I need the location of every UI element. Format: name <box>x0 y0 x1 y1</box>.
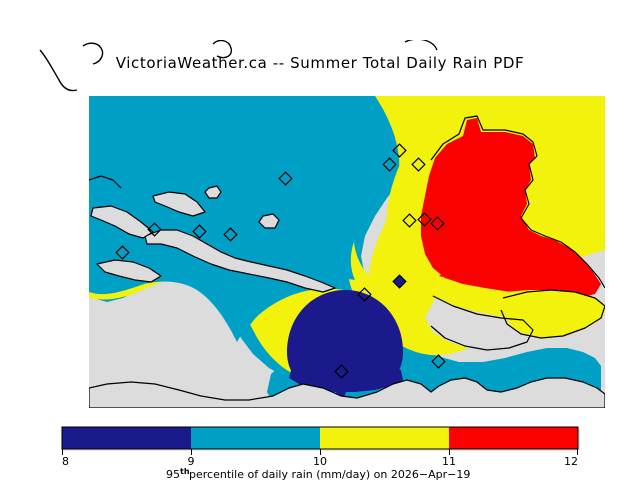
colorbar-caption-rest: percentile of daily rain (mm/day) on 202… <box>189 468 470 480</box>
colorbar-band-cyan <box>191 427 320 449</box>
colorbar-bands <box>62 427 578 449</box>
offframe-coastlines <box>40 40 437 91</box>
colorbar-svg: 8 9 10 11 12 95 th percentile of daily r… <box>0 420 640 480</box>
map-panel <box>35 40 607 410</box>
colorbar-panel: 8 9 10 11 12 95 th percentile of daily r… <box>0 420 640 480</box>
colorbar-band-yellow <box>320 427 449 449</box>
weather-map-page: VictoriaWeather.ca -- Summer Total Daily… <box>0 0 640 480</box>
colorbar-caption-prefix: 95 <box>166 468 180 480</box>
colorbar-band-navy <box>62 427 191 449</box>
plot-area <box>89 96 605 408</box>
colorbar-band-red <box>449 427 578 449</box>
colorbar-tick-label-0: 8 <box>62 455 69 468</box>
colorbar-tick-label-3: 11 <box>442 455 456 468</box>
colorbar-tick-label-4: 12 <box>564 455 578 468</box>
colorbar-tick-label-2: 10 <box>313 455 327 468</box>
map-svg <box>35 40 607 410</box>
